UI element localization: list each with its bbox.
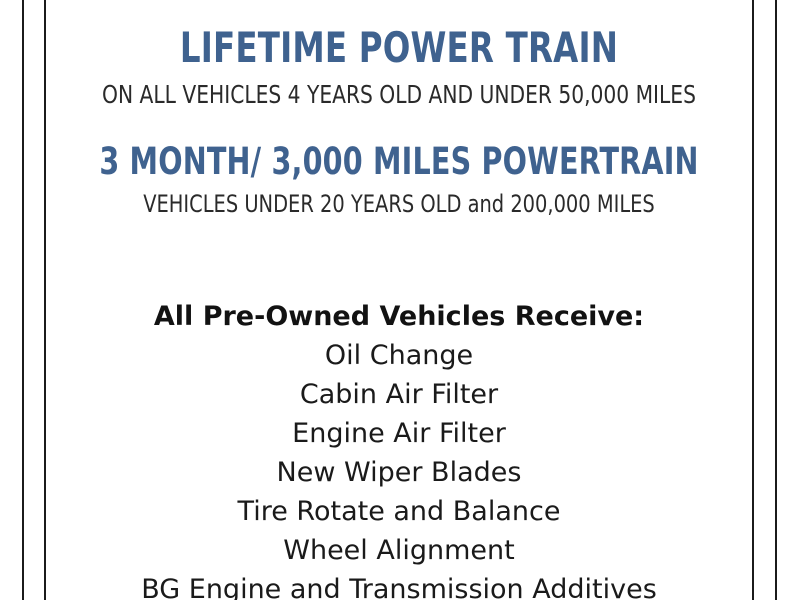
flyer-content: LIFETIME POWER TRAIN ON ALL VEHICLES 4 Y… [46, 0, 752, 600]
frame-rule-right-outer [775, 0, 777, 600]
frame-rule-left-outer [22, 0, 24, 600]
services-title: All Pre-Owned Vehicles Receive: [46, 298, 752, 336]
service-item: BG Engine and Transmission Additives [46, 570, 752, 600]
services-section: All Pre-Owned Vehicles Receive: Oil Chan… [46, 298, 752, 600]
service-item: Wheel Alignment [46, 531, 752, 570]
frame-rule-right-inner [752, 0, 754, 600]
warranty-flyer: LIFETIME POWER TRAIN ON ALL VEHICLES 4 Y… [0, 0, 800, 600]
service-item: Cabin Air Filter [46, 375, 752, 414]
subline-three-month-powertrain: VEHICLES UNDER 20 YEARS OLD and 200,000 … [81, 192, 716, 216]
subline-lifetime-power-train: ON ALL VEHICLES 4 YEARS OLD AND UNDER 50… [81, 82, 716, 107]
service-item: Tire Rotate and Balance [46, 492, 752, 531]
service-item: Engine Air Filter [46, 414, 752, 453]
headline-three-month-powertrain: 3 MONTH/ 3,000 MILES POWERTRAIN [95, 143, 702, 180]
headline-lifetime-power-train: LIFETIME POWER TRAIN [95, 27, 702, 69]
service-item: Oil Change [46, 336, 752, 375]
service-item: New Wiper Blades [46, 453, 752, 492]
